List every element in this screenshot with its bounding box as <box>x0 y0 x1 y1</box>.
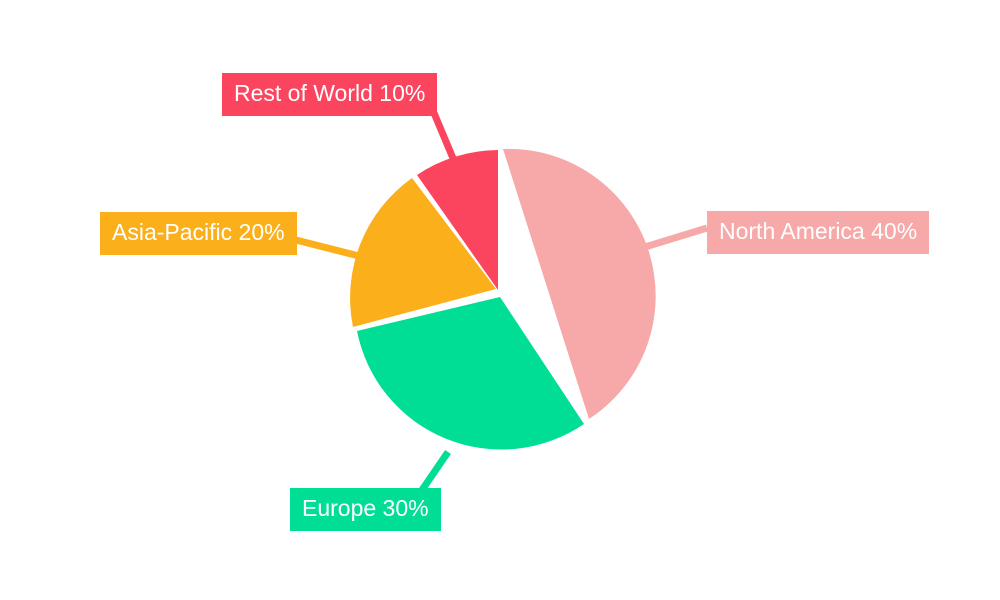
pie-label-north-america[interactable]: North America 40% <box>707 211 929 254</box>
leader-line-rest-of-world <box>434 113 455 163</box>
pie-slice-europe[interactable] <box>357 297 584 450</box>
pie-label-asia-pacific[interactable]: Asia-Pacific 20% <box>100 212 297 255</box>
leader-line-north-america <box>645 228 707 247</box>
pie-chart: North America 40% Europe 30% Asia-Pacifi… <box>0 0 1000 600</box>
pie-label-europe[interactable]: Europe 30% <box>290 488 441 531</box>
leader-line-europe <box>422 452 448 490</box>
pie-label-rest-of-world[interactable]: Rest of World 10% <box>222 73 437 116</box>
leader-line-asia-pacific <box>296 240 359 256</box>
pie-chart-canvas <box>0 0 1000 600</box>
